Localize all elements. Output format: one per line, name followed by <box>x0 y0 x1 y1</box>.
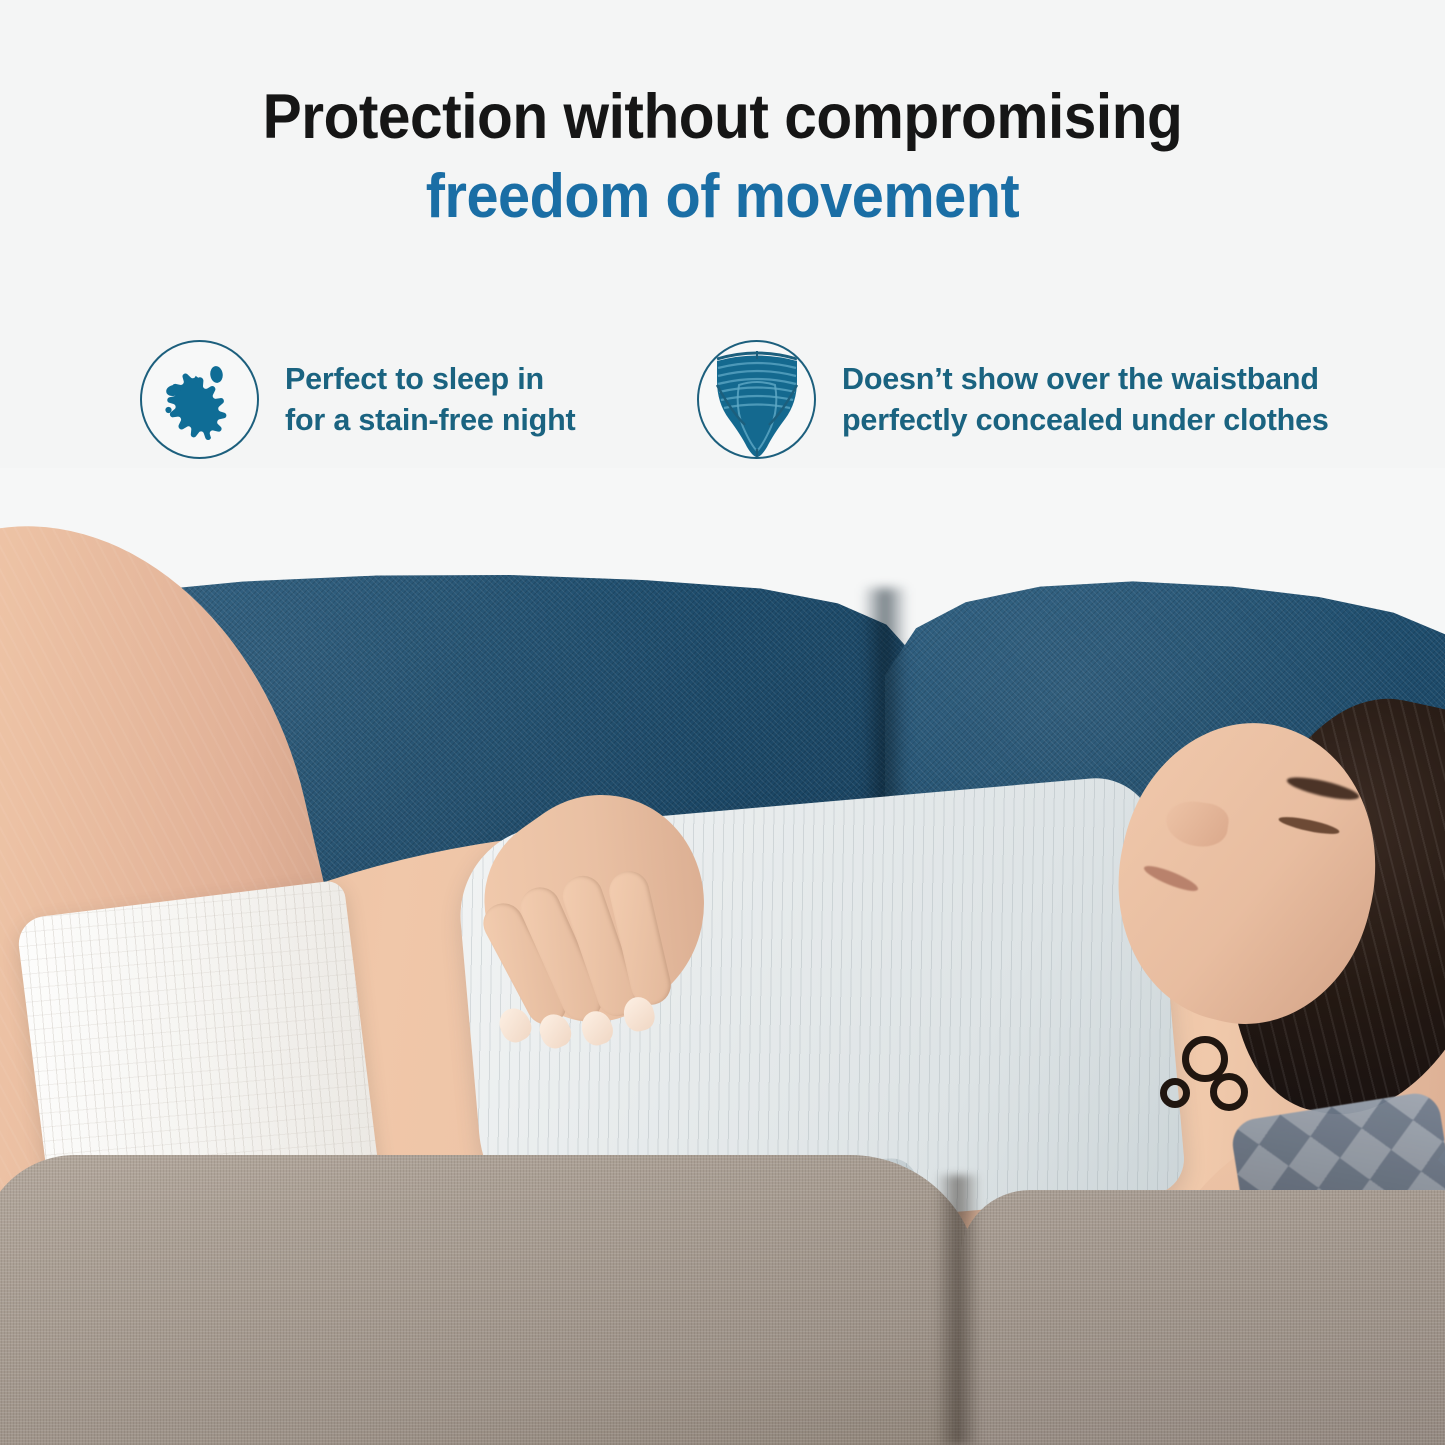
headline-line-1: Protection without compromising <box>51 86 1395 149</box>
feature-item-sleep-in: Perfect to sleep in for a stain-free nig… <box>140 340 575 459</box>
feature-row: Perfect to sleep in for a stain-free nig… <box>0 340 1445 480</box>
feature-text-line-2: perfectly concealed under clothes <box>842 400 1329 441</box>
feature-text-line-2: for a stain-free night <box>285 400 575 441</box>
headline-block: Protection without compromising freedom … <box>0 86 1445 228</box>
splash-icon <box>140 340 259 459</box>
feature-text-sleep-in: Perfect to sleep in for a stain-free nig… <box>285 359 575 440</box>
product-feature-banner: Protection without compromising freedom … <box>0 0 1445 1445</box>
underwear-icon <box>697 340 816 459</box>
hair-curl <box>1160 1078 1190 1108</box>
lifestyle-photo <box>0 468 1445 1445</box>
feature-text-line-1: Doesn’t show over the waistband <box>842 362 1319 396</box>
headline-line-2: freedom of movement <box>51 166 1395 228</box>
sofa-seat-gap <box>935 1175 981 1445</box>
feature-item-concealed: Doesn’t show over the waistband perfectl… <box>697 340 1329 459</box>
feature-text-line-1: Perfect to sleep in <box>285 362 544 396</box>
sofa-seat-right <box>960 1190 1445 1445</box>
sofa-seat-left <box>0 1155 980 1445</box>
hair-curl <box>1210 1073 1248 1111</box>
feature-text-concealed: Doesn’t show over the waistband perfectl… <box>842 359 1329 440</box>
